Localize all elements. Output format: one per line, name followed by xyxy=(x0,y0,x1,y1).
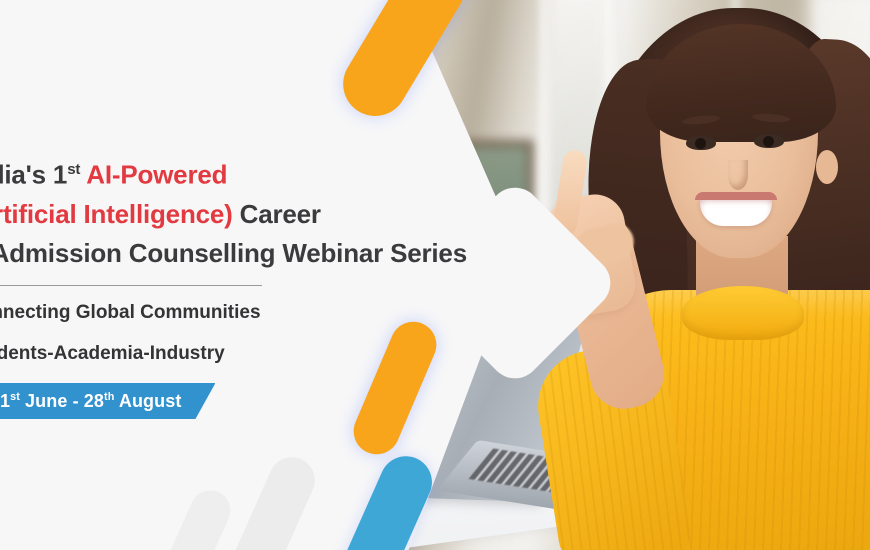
headline-ordinal-suffix: st xyxy=(67,161,80,178)
smiling-mouth xyxy=(700,196,772,226)
date-badge-label: 1st June - 28th August xyxy=(0,391,181,412)
eye-right xyxy=(754,134,784,148)
headline-line2-accent: (Artificial Intelligence) xyxy=(0,199,233,229)
subheadline-line1: Connecting Global Communities xyxy=(0,298,446,327)
headline-line1-prefix: India's 1 xyxy=(0,160,67,190)
divider xyxy=(0,285,262,286)
page-title-line2: (Artificial Intelligence) Career xyxy=(0,195,446,234)
headline-block: India's 1st AI-Powered (Artificial Intel… xyxy=(0,150,446,368)
nose xyxy=(728,160,748,190)
page-title: India's 1st AI-Powered xyxy=(0,150,446,195)
ear xyxy=(816,150,838,184)
headline-line1-accent: AI-Powered xyxy=(86,160,227,190)
subheadline-line2: Students-Academia-Industry xyxy=(0,339,446,368)
page-title-line3: & Admission Counselling Webinar Series xyxy=(0,234,446,273)
turtleneck-collar xyxy=(682,286,804,340)
eye-left xyxy=(686,136,716,150)
webinar-promo-banner: India's 1st AI-Powered (Artificial Intel… xyxy=(0,0,870,550)
date-badge: 1st June - 28th August xyxy=(0,383,215,419)
headline-line2-rest: Career xyxy=(240,199,321,229)
